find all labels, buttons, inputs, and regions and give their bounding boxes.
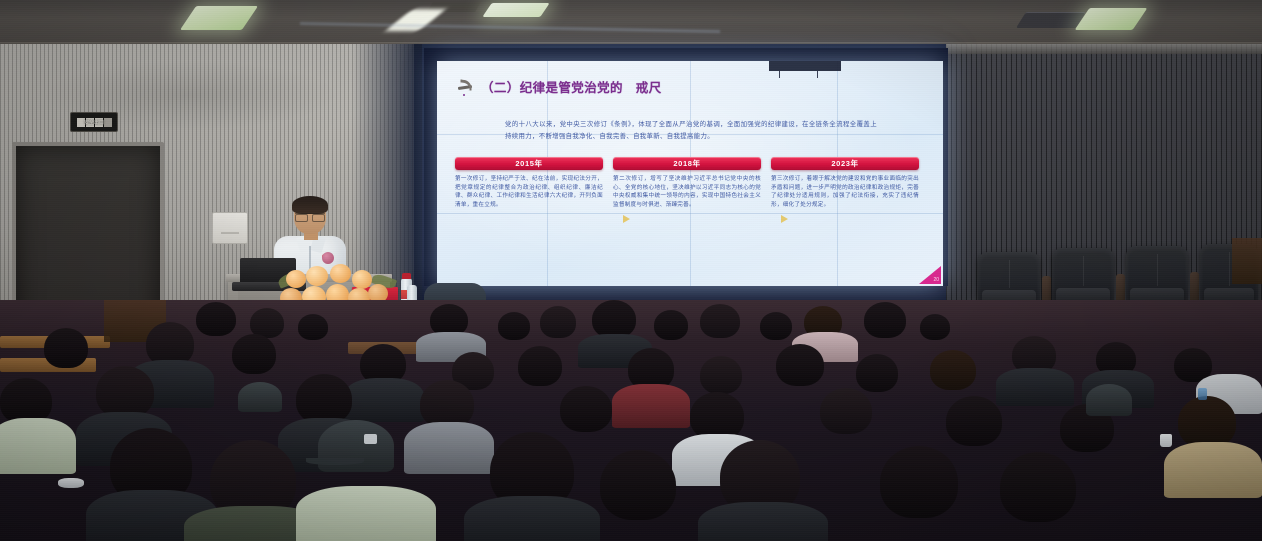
arrow-icon-1 <box>623 215 630 223</box>
audience-head <box>232 334 276 374</box>
audience-body <box>612 384 690 428</box>
bottle-cap <box>402 273 411 279</box>
emergency-exit-sign: 安全出口 <box>70 112 118 132</box>
audience-head <box>600 450 676 520</box>
year-badge-2023: 2023年 <box>771 157 919 170</box>
drink-cup <box>1160 434 1172 447</box>
audience-cap <box>1086 384 1132 416</box>
slide-page-number: 20 <box>933 277 939 283</box>
audience-head <box>420 380 474 428</box>
year-badge-2018: 2018年 <box>613 157 761 170</box>
projector-hotspot <box>769 61 841 71</box>
ceiling-light-2 <box>482 3 549 17</box>
audience-head <box>196 302 236 336</box>
speaker-hair <box>292 196 328 214</box>
audience-head <box>560 386 612 432</box>
cap-logo <box>364 434 377 444</box>
audience-body <box>296 486 436 541</box>
audience-head <box>690 392 744 440</box>
lecture-hall-photo: 安全出口 （二）纪律是管党治党的 戒尺 党的十八大以来，党中央三次修订《条例》，… <box>0 0 1262 541</box>
title-accent-dot <box>463 94 465 96</box>
audience-head <box>518 346 562 386</box>
audience-body <box>698 502 828 541</box>
audience-head <box>700 356 742 394</box>
audience-head <box>880 446 958 518</box>
audience-body <box>1164 442 1262 498</box>
eyeglasses-icon <box>295 213 325 220</box>
audience-head <box>946 396 1002 446</box>
audience-head <box>96 366 154 418</box>
audience-head <box>760 312 792 340</box>
audience-head <box>654 310 688 340</box>
slide-body-text: 党的十八大以来，党中央三次修订《条例》，体现了全面从严治党的基调，全面加强党的纪… <box>505 119 877 143</box>
audience-cap <box>238 382 282 412</box>
audience-body <box>0 418 76 474</box>
column-text-2018: 第二次修订，增写了坚决维护习近平总书记党中央的核心、全党的核心地位，坚决维护以习… <box>613 175 761 209</box>
audience-head <box>1178 396 1236 448</box>
audience-head <box>864 302 906 338</box>
side-desk <box>1232 238 1262 284</box>
audience-body <box>344 378 424 422</box>
exit-sign-label: 安全出口 <box>71 113 117 131</box>
right-wall-trim <box>946 44 1262 54</box>
arrow-icon-2 <box>781 215 788 223</box>
audience-body <box>464 496 600 541</box>
slide-column-2018: 2018年 第二次修订，增写了坚决维护习近平总书记党中央的核心、全党的核心地位，… <box>613 157 761 209</box>
slide-title: （二）纪律是管党治党的 戒尺 <box>481 77 662 96</box>
projection-screen: （二）纪律是管党治党的 戒尺 党的十八大以来，党中央三次修订《条例》，体现了全面… <box>437 61 943 286</box>
audience-head <box>856 354 898 392</box>
audience-body <box>996 368 1074 406</box>
audience-head <box>44 328 88 368</box>
audience-head <box>498 312 530 340</box>
paper-item <box>58 478 84 488</box>
slide-column-2015: 2015年 第一次修订，坚持纪严于法、纪在法前，实现纪法分开，把党章规定的纪律整… <box>455 157 603 209</box>
audience-head <box>540 306 576 338</box>
slide-title-row: （二）纪律是管党治党的 戒尺 <box>457 77 662 96</box>
audience-head <box>930 350 976 390</box>
audience-head <box>296 374 352 424</box>
wall-switch-plate[interactable] <box>212 212 248 244</box>
slide-column-2023: 2023年 第三次修订，着眼于解决党的建设和党的事业面临的突出矛盾和问题，进一步… <box>771 157 919 209</box>
slide-columns: 2015年 第一次修订，坚持纪严于法、纪在法前，实现纪法分开，把党章规定的纪律整… <box>455 157 927 209</box>
auditorium-seat[interactable] <box>1126 246 1188 308</box>
auditorium-seat[interactable] <box>1052 248 1114 308</box>
audience-head <box>776 344 824 386</box>
audience-head <box>700 304 740 338</box>
audience-head <box>920 314 950 340</box>
phone-screen <box>1198 388 1207 400</box>
audience-area <box>0 300 1262 541</box>
cap-brim <box>306 458 364 465</box>
column-text-2015: 第一次修订，坚持纪严于法、纪在法前，实现纪法分开，把党章规定的纪律整合为政治纪律… <box>455 175 603 209</box>
audience-body <box>404 422 494 474</box>
year-badge-2015: 2015年 <box>455 157 603 170</box>
audience-head <box>298 314 328 340</box>
audience-head <box>592 300 636 338</box>
audience-head <box>820 388 872 434</box>
audience-head <box>1000 452 1076 522</box>
party-emblem-icon <box>457 79 474 94</box>
column-text-2023: 第三次修订，着眼于解决党的建设和党的事业面临的突出矛盾和问题，进一步严明党的政治… <box>771 175 919 209</box>
ceiling-vent-right <box>1016 12 1086 28</box>
